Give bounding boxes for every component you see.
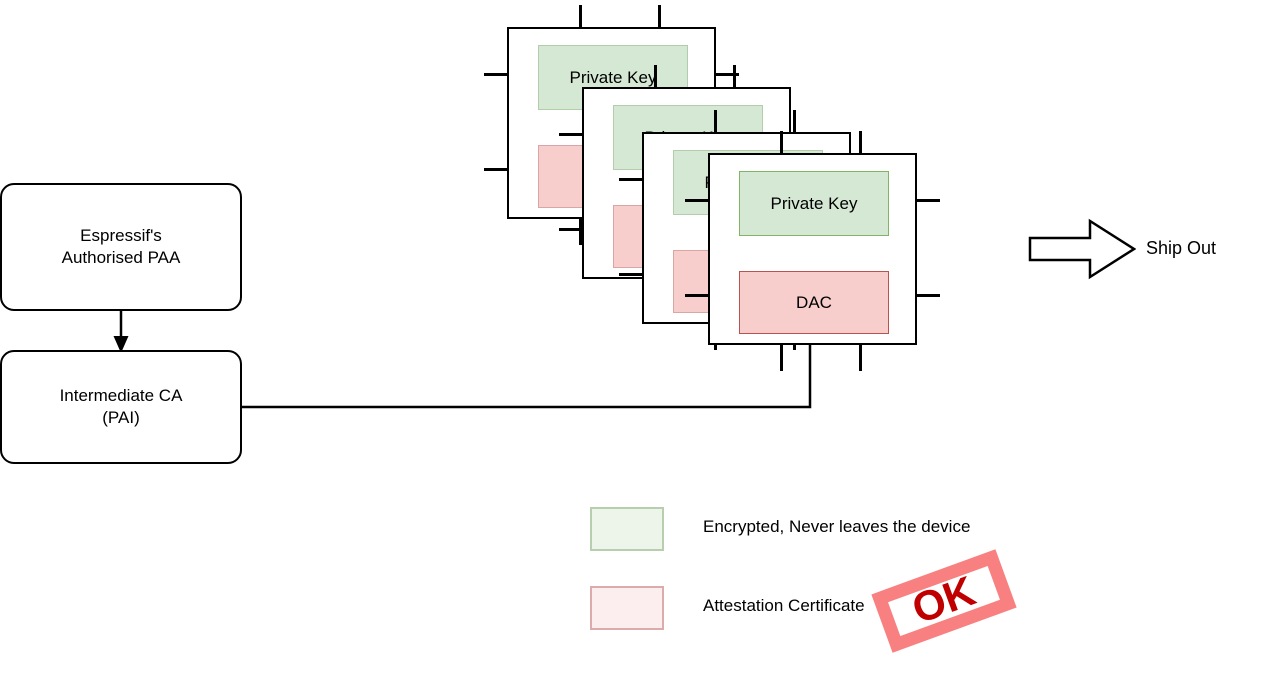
ok-stamp: OK: [871, 549, 1016, 652]
legend-swatch-attestation: [590, 586, 664, 630]
chip-2-pin-left-2: [619, 273, 644, 276]
chip-card-3[interactable]: Private Key DAC: [685, 131, 940, 371]
legend-label-attestation: Attestation Certificate: [703, 596, 865, 616]
ship-out-arrow: [1028, 218, 1136, 280]
ok-stamp-label: OK: [907, 570, 981, 631]
chip-3-pin-top-1: [780, 131, 783, 155]
chip-3-private-key-label: Private Key: [771, 194, 858, 214]
chip-0-pin-top-2: [658, 5, 661, 29]
chip-0-pin-top-1: [579, 5, 582, 29]
chip-1-pin-left-2: [559, 228, 584, 231]
chip-0-pin-left-2: [484, 168, 509, 171]
chip-1-pin-top-2: [733, 65, 736, 89]
pai-box[interactable]: Intermediate CA (PAI): [0, 350, 242, 464]
chip-3-pin-bottom-2: [859, 343, 862, 371]
legend-swatch-encrypted: [590, 507, 664, 551]
chip-3-pin-bottom-1: [780, 343, 783, 371]
paa-to-pai-arrow: [106, 309, 136, 354]
chip-3-pin-right-2: [915, 294, 940, 297]
chip-3-dac-box[interactable]: DAC: [739, 271, 889, 334]
chip-3-pin-top-2: [859, 131, 862, 155]
chip-3-dac-label: DAC: [796, 293, 832, 313]
chip-3-pin-right-1: [915, 199, 940, 202]
pai-label: Intermediate CA (PAI): [60, 385, 183, 429]
ship-out-label: Ship Out: [1146, 237, 1216, 259]
paa-label: Espressif's Authorised PAA: [62, 225, 181, 269]
chip-3-pin-left-1: [685, 199, 710, 202]
chip-1-pin-top-1: [654, 65, 657, 89]
chip-3-private-key-box[interactable]: Private Key: [739, 171, 889, 236]
diagram-canvas: Espressif's Authorised PAA Intermediate …: [0, 0, 1262, 688]
chip-3-pin-left-2: [685, 294, 710, 297]
chip-0-pin-left-1: [484, 73, 509, 76]
chip-3-body: Private Key DAC: [708, 153, 917, 345]
legend-label-encrypted: Encrypted, Never leaves the device: [703, 517, 970, 537]
chip-1-pin-left-1: [559, 133, 584, 136]
paa-box[interactable]: Espressif's Authorised PAA: [0, 183, 242, 311]
chip-2-pin-left-1: [619, 178, 644, 181]
